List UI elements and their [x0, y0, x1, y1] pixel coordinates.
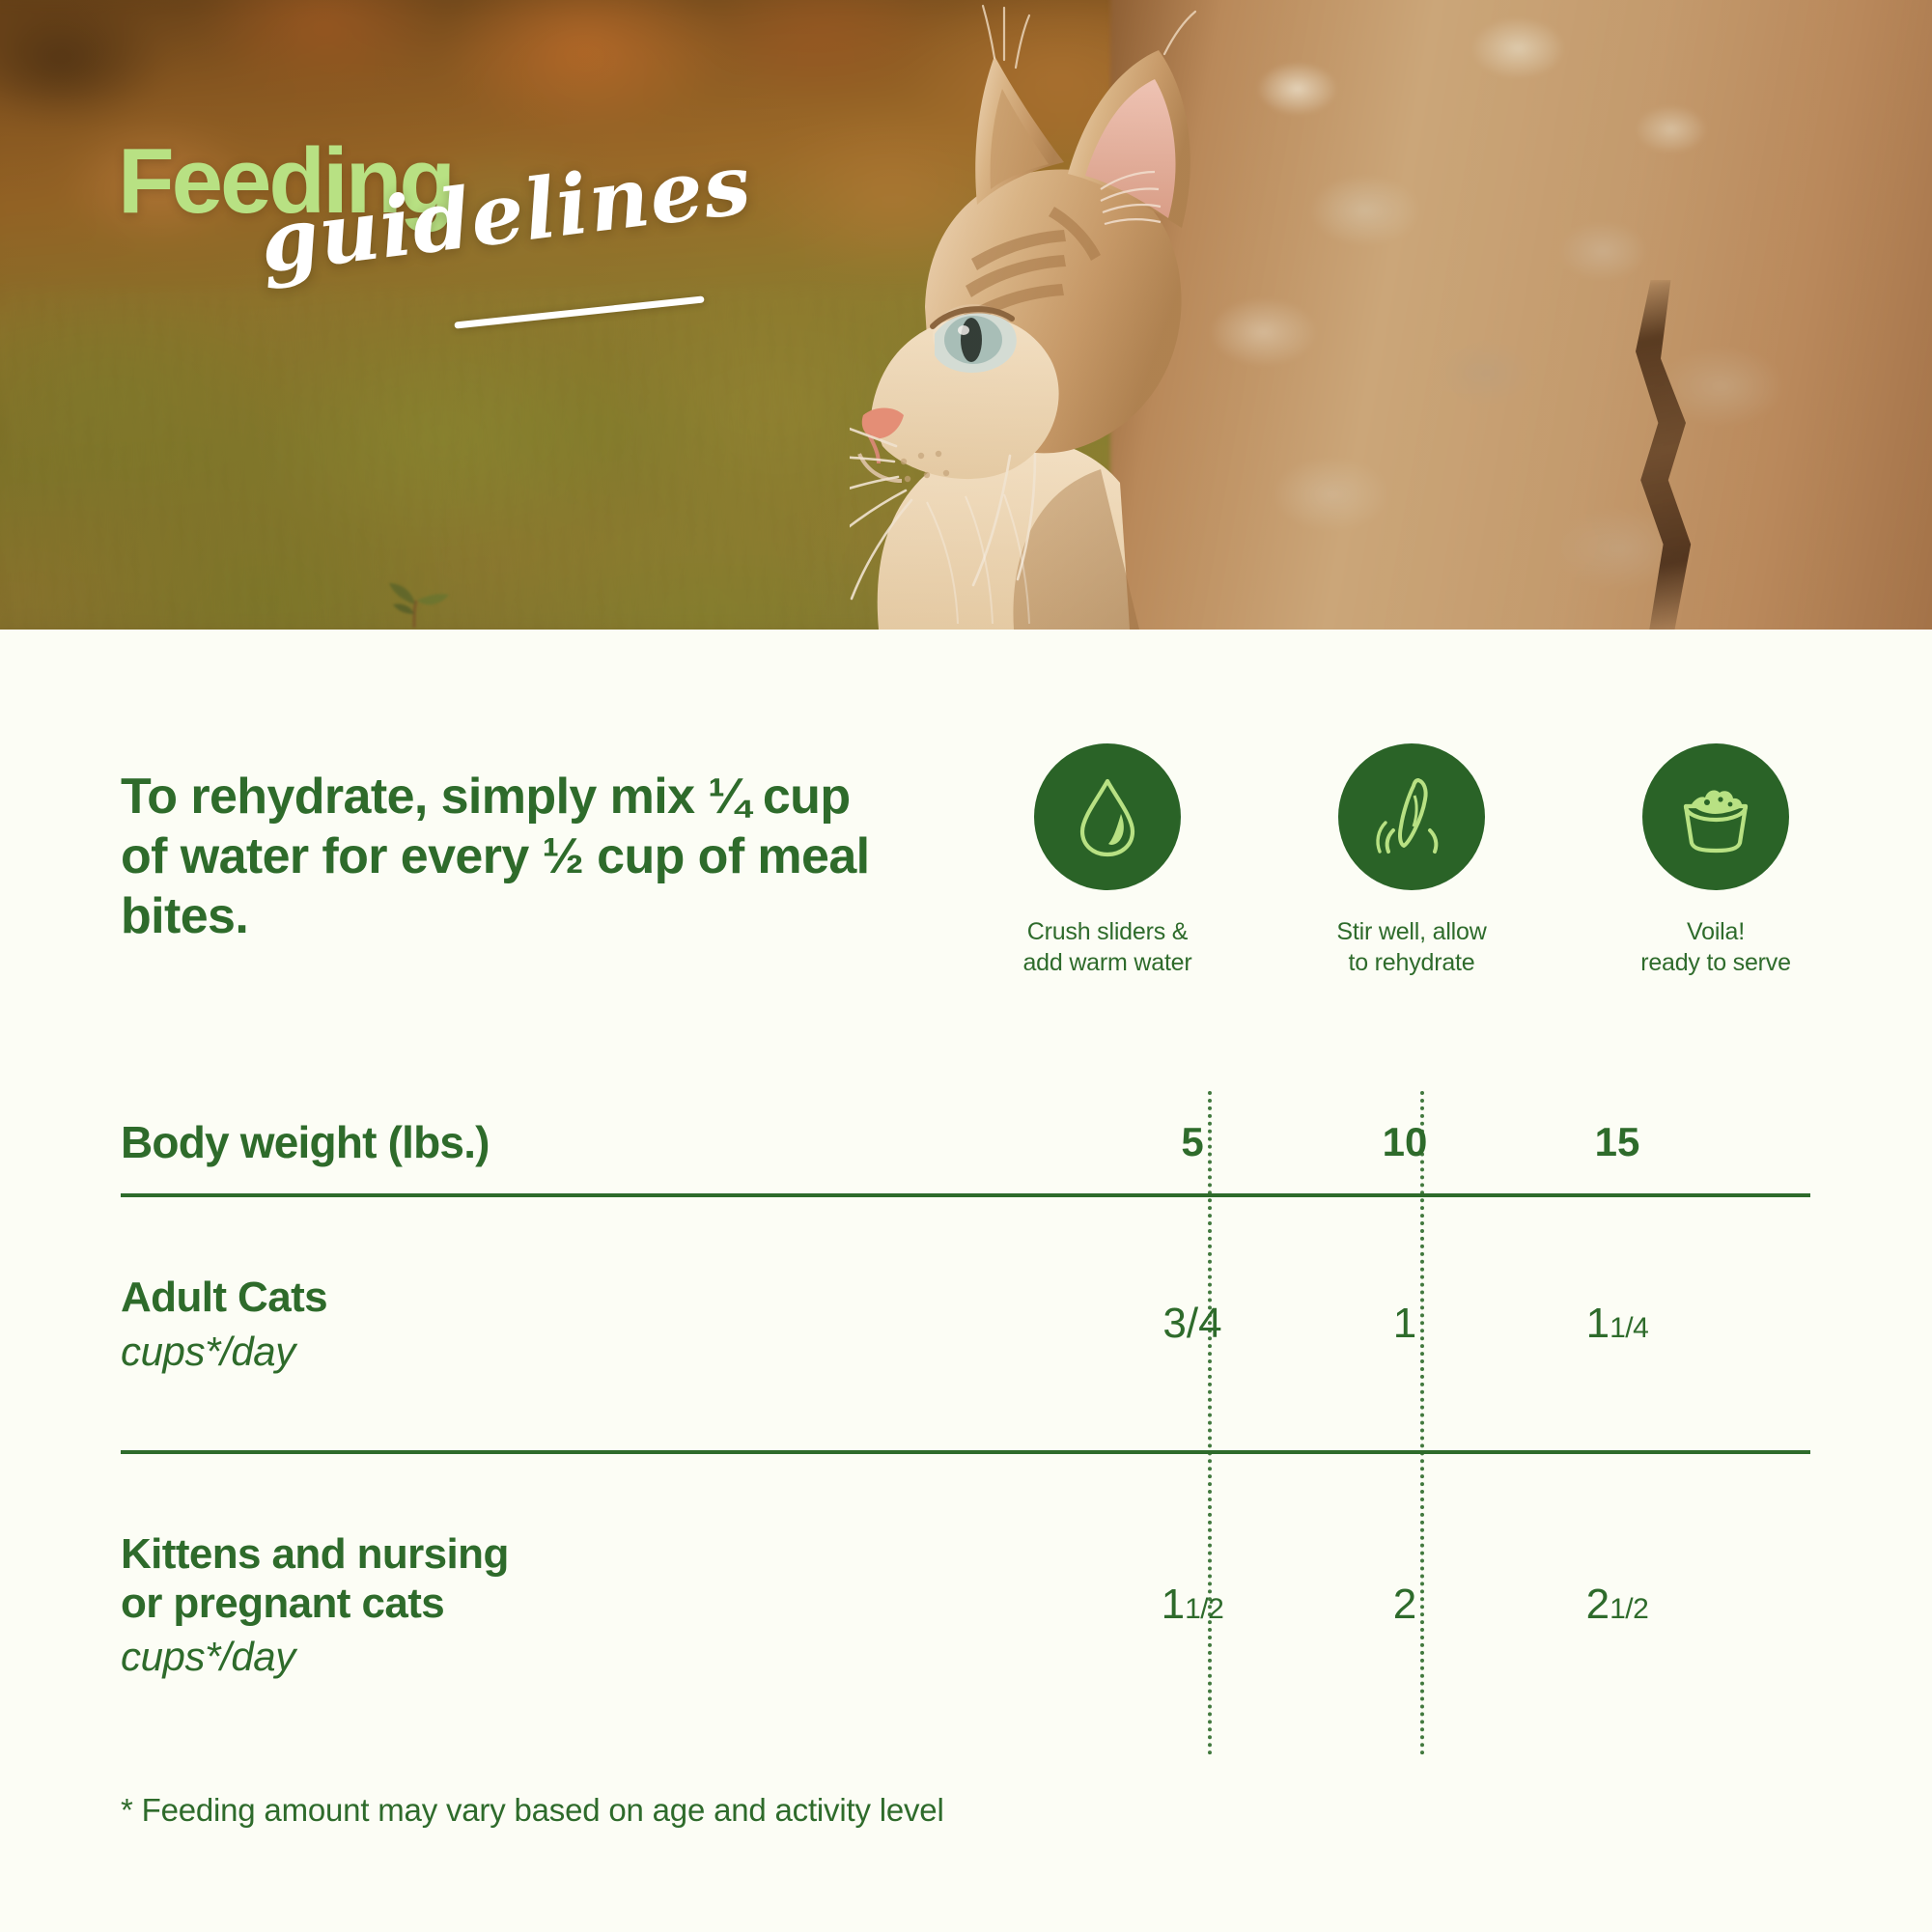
rehydrate-instruction-text: To rehydrate, simply mix ¼ cup of water …	[121, 768, 883, 947]
step-caption: Stir well, allow to rehydrate	[1336, 917, 1486, 978]
step-ready-to-serve: Voila! ready to serve	[1585, 743, 1846, 978]
cell-fraction: 1/2	[1610, 1593, 1648, 1625]
cell-value: 2	[1586, 1581, 1610, 1628]
table-header-label: Body weight (lbs.)	[121, 1116, 1086, 1168]
cell-adult-10: 1	[1299, 1300, 1511, 1348]
row-label-adult-cats: Adult Cats cups*/day	[121, 1273, 1086, 1374]
row-label-kittens: Kittens and nursing or pregnant cats cup…	[121, 1529, 1086, 1681]
instructions-section: To rehydrate, simply mix ¼ cup of water …	[0, 630, 1932, 1035]
step-caption: Crush sliders & add warm water	[1022, 917, 1191, 978]
step-stir-well: Stir well, allow to rehydrate	[1281, 743, 1542, 978]
cell-adult-5: 3/4	[1086, 1300, 1299, 1348]
row-subtitle: cups*/day	[121, 1329, 1086, 1375]
footnote: * Feeding amount may vary based on age a…	[121, 1792, 944, 1829]
food-bowl-icon	[1672, 779, 1759, 854]
cell-kittens-15: 21/2	[1511, 1581, 1723, 1629]
row-title: Kittens and nursing or pregnant cats	[121, 1529, 1086, 1629]
column-header-15: 15	[1511, 1119, 1723, 1165]
cell-value: 1	[1586, 1300, 1610, 1347]
steps-row: Crush sliders & add warm water Stir well…	[977, 743, 1846, 978]
cat-and-tree-photo	[850, 0, 1932, 630]
kitten-illustration	[850, 0, 1265, 630]
hero-title-block: Feeding guidelines	[118, 135, 813, 340]
step-icon-circle	[1034, 743, 1181, 890]
cell-fraction: 1/2	[1185, 1593, 1223, 1625]
cell-kittens-10: 2	[1299, 1581, 1511, 1629]
cell-kittens-5: 11/2	[1086, 1581, 1299, 1629]
column-header-10: 10	[1299, 1119, 1511, 1165]
step-caption: Voila! ready to serve	[1640, 917, 1791, 978]
feeding-guidelines-page: Feeding guidelines To rehydrate, simply …	[0, 0, 1932, 1932]
hero-banner: Feeding guidelines	[0, 0, 1932, 630]
column-header-5: 5	[1086, 1119, 1299, 1165]
cell-value: 1	[1162, 1581, 1185, 1628]
leaf-sprig-icon	[372, 572, 459, 630]
table-header-row: Body weight (lbs.) 5 10 15	[121, 1091, 1810, 1193]
script-underline	[454, 295, 704, 328]
step-icon-circle	[1642, 743, 1789, 890]
cell-adult-15: 11/4	[1511, 1300, 1723, 1348]
step-crush-sliders: Crush sliders & add warm water	[977, 743, 1238, 978]
stirring-spoon-icon	[1372, 774, 1451, 859]
cell-fraction: 1/4	[1610, 1312, 1648, 1344]
kitten-silhouette	[850, 0, 1265, 630]
table-row: Adult Cats cups*/day 3/4 1 11/4	[121, 1197, 1810, 1450]
title-script-wrap: guidelines	[261, 195, 813, 340]
table-row: Kittens and nursing or pregnant cats cup…	[121, 1454, 1810, 1755]
step-icon-circle	[1338, 743, 1485, 890]
cell-value: 1	[1393, 1300, 1416, 1347]
row-subtitle: cups*/day	[121, 1634, 1086, 1680]
row-title: Adult Cats	[121, 1273, 1086, 1322]
water-drop-icon	[1071, 775, 1144, 858]
cell-value: 3/4	[1162, 1300, 1221, 1347]
cell-value: 2	[1393, 1581, 1416, 1628]
feeding-table: Body weight (lbs.) 5 10 15 Adult Cats cu…	[121, 1091, 1810, 1755]
